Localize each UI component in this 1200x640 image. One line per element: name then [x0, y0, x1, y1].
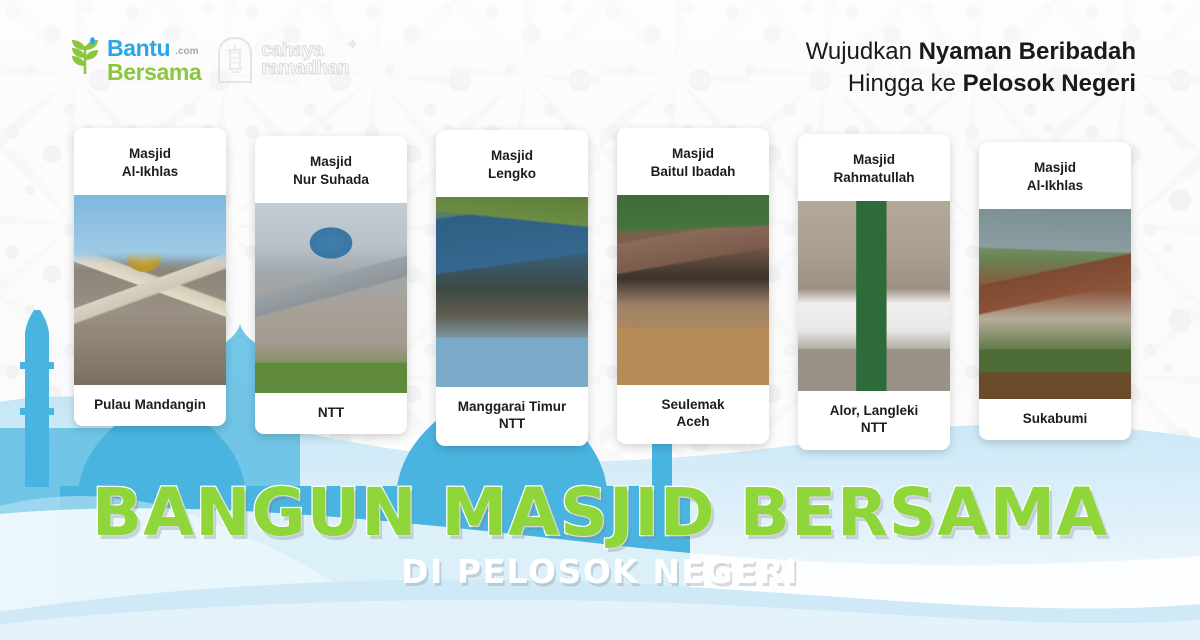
card-photo-bamboo-mosque-tile-roof [979, 209, 1131, 399]
card-location: Manggarai TimurNTT [436, 387, 588, 446]
card-location: NTT [255, 393, 407, 435]
star-icon: ✦ [347, 39, 357, 50]
logo-word-bersama: Bersama [107, 61, 201, 84]
headline-line-1: Wujudkan Nyaman Beribadah [806, 36, 1136, 68]
card-photo-three-men-holding-banner [798, 201, 950, 391]
card-location: Alor, LanglekiNTT [798, 391, 950, 450]
card-location: SeulemakAceh [617, 385, 769, 444]
bantu-bersama-logo: Bantu .com Bersama [70, 37, 201, 84]
mosque-card[interactable]: MasjidAl-Ikhlas Sukabumi [979, 142, 1131, 440]
logo-word-bantu: Bantu [107, 37, 170, 60]
card-location: Sukabumi [979, 399, 1131, 441]
mosque-card-list: MasjidAl-Ikhlas Pulau Mandangin MasjidNu… [0, 128, 1200, 440]
card-title: MasjidNur Suhada [255, 136, 407, 203]
card-location: Pulau Mandangin [74, 385, 226, 427]
mosque-card[interactable]: MasjidBaitul Ibadah SeulemakAceh [617, 128, 769, 444]
card-photo-mosque-under-construction-golden-dome [74, 195, 226, 385]
mosque-card[interactable]: MasjidNur Suhada NTT [255, 136, 407, 434]
lantern-arch-icon [215, 36, 255, 84]
mosque-card[interactable]: MasjidAl-Ikhlas Pulau Mandangin [74, 128, 226, 426]
campaign-subtitle: DI PELOSOK NEGERI [0, 552, 1200, 591]
card-title: MasjidAl-Ikhlas [979, 142, 1131, 209]
card-title: MasjidRahmatullah [798, 134, 950, 201]
card-title: MasjidBaitul Ibadah [617, 128, 769, 195]
leaf-sprout-icon [70, 37, 100, 75]
headline-line-2: Hingga ke Pelosok Negeri [806, 68, 1136, 100]
campaign-title: BANGUN MASJID BERSAMA [0, 474, 1200, 551]
logo-group: Bantu .com Bersama cahaya ✦ [70, 36, 349, 84]
headline: Wujudkan Nyaman Beribadah Hingga ke Pelo… [806, 36, 1136, 100]
card-photo-congregation-praying-under-tarp [436, 197, 588, 387]
mosque-card[interactable]: MasjidLengko Manggarai TimurNTT [436, 130, 588, 446]
campaign-banner: Bantu .com Bersama cahaya ✦ [0, 0, 1200, 640]
ramadhan-text: ramadhan [261, 60, 349, 78]
mosque-card[interactable]: MasjidRahmatullah Alor, LanglekiNTT [798, 134, 950, 450]
card-title: MasjidLengko [436, 130, 588, 197]
banner-header: Bantu .com Bersama cahaya ✦ [0, 0, 1200, 120]
card-photo-wooden-mosque-blue-tower [255, 203, 407, 393]
card-title: MasjidAl-Ikhlas [74, 128, 226, 195]
card-photo-wooden-mosque-tin-roof [617, 195, 769, 385]
logo-tld: .com [175, 47, 198, 60]
cahaya-ramadhan-logo: cahaya ✦ ramadhan [215, 36, 349, 84]
cahaya-text: cahaya ✦ [261, 42, 349, 60]
